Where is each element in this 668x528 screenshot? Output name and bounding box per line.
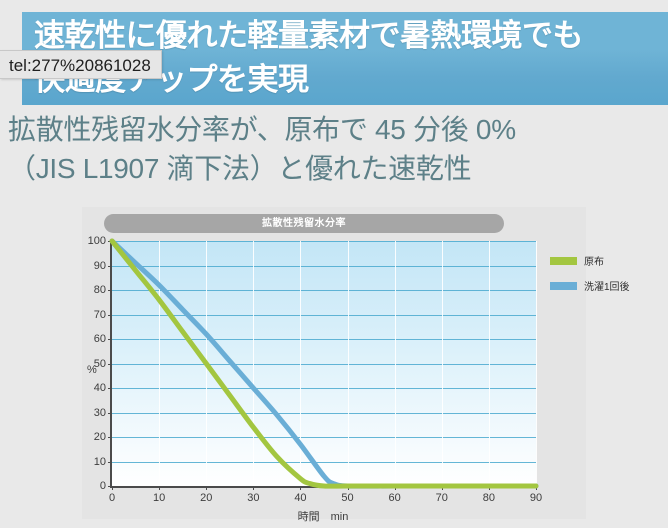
chart-title-bar: 拡散性残留水分率: [104, 214, 504, 233]
status-bar-link-tooltip: tel:277%20861028: [0, 50, 162, 79]
subheading: 拡散性残留水分率が、原布で 45 分後 0% （JIS L1907 滴下法）と優…: [8, 110, 664, 188]
legend-swatch-icon: [550, 257, 577, 265]
x-axis-tick-label: 30: [247, 492, 259, 504]
x-axis-tick-label: 70: [436, 492, 448, 504]
x-axis-tick-label: 40: [294, 492, 306, 504]
legend-item[interactable]: 洗濯1回後: [550, 278, 660, 293]
chart-series-line: [112, 241, 536, 486]
y-axis-tick-label: 10: [94, 456, 106, 468]
x-axis-tick-label: 50: [341, 492, 353, 504]
chart-card: 拡散性残留水分率 % 時間 min 0102030405060708090100…: [82, 207, 586, 519]
chart-series-layer: [112, 241, 538, 488]
x-axis-tick-label: 90: [530, 492, 542, 504]
x-axis-title: 時間 min: [110, 508, 536, 524]
chart-plot-area: 0102030405060708090100010203040506070809…: [110, 241, 536, 488]
y-axis-tick-label: 0: [100, 480, 106, 492]
chart-legend: 原布洗濯1回後: [550, 253, 660, 303]
y-axis-tick-label: 40: [94, 382, 106, 394]
y-axis-tick-label: 100: [88, 235, 106, 247]
x-axis-tick-label: 0: [109, 492, 115, 504]
y-axis-tick-label: 80: [94, 284, 106, 296]
legend-swatch-icon: [550, 282, 577, 290]
legend-item-label: 原布: [584, 253, 604, 268]
page-root: 速乾性に優れた軽量素材で暑熱環境でも 快適度アップを実現 tel:277%208…: [0, 0, 668, 528]
y-axis-tick-label: 60: [94, 333, 106, 345]
x-axis-tick-label: 10: [153, 492, 165, 504]
chart-title: 拡散性残留水分率: [104, 214, 504, 233]
y-axis-tick-label: 70: [94, 309, 106, 321]
y-axis-tick-label: 20: [94, 431, 106, 443]
x-axis-tick-label: 80: [483, 492, 495, 504]
x-axis-tick-label: 20: [200, 492, 212, 504]
y-axis-tick-label: 50: [94, 358, 106, 370]
legend-item-label: 洗濯1回後: [584, 278, 630, 293]
y-axis-tick-label: 30: [94, 407, 106, 419]
y-axis-tick-label: 90: [94, 260, 106, 272]
legend-item[interactable]: 原布: [550, 253, 660, 268]
x-axis-tick-label: 60: [389, 492, 401, 504]
chart-series-line: [112, 241, 536, 486]
